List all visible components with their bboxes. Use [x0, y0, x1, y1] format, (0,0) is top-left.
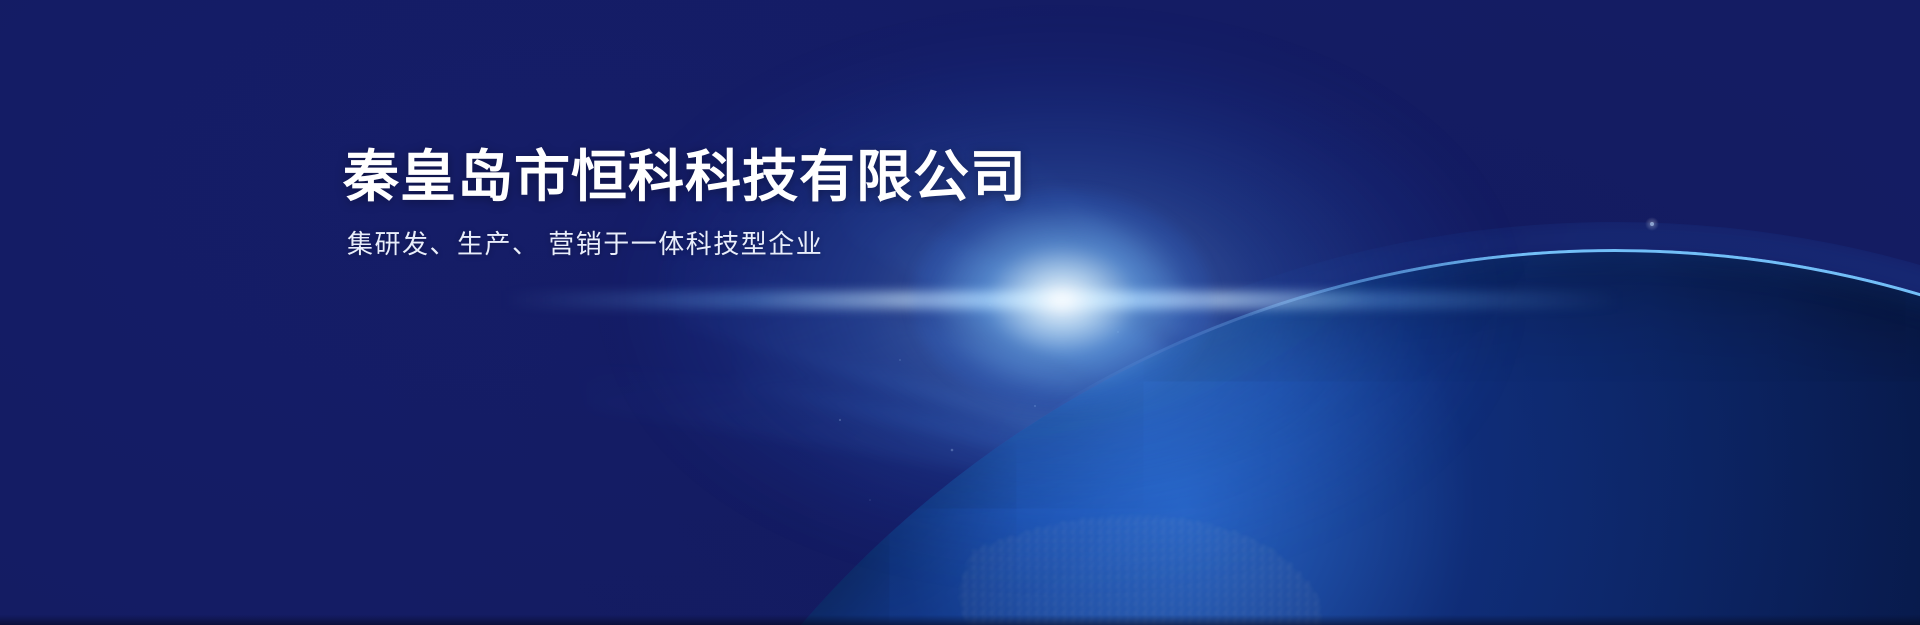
page-subtitle: 集研发、生产、 营销于一体科技型企业: [347, 229, 1027, 260]
hero-banner: 秦皇岛市恒科科技有限公司 集研发、生产、 营销于一体科技型企业: [0, 0, 1920, 625]
page-title: 秦皇岛市恒科科技有限公司: [343, 148, 1027, 207]
hero-copy: 秦皇岛市恒科科技有限公司 集研发、生产、 营销于一体科技型企业: [343, 148, 1027, 260]
background-vignette: [0, 0, 1920, 625]
